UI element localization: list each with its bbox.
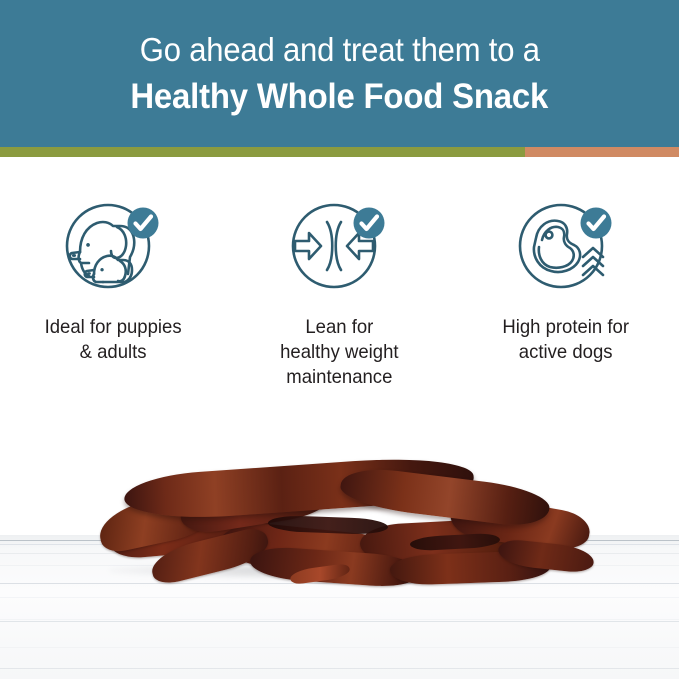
feature-caption-high-protein: High protein for active dogs xyxy=(502,315,629,365)
accent-stripe-olive-segment xyxy=(0,147,525,157)
feature-caption-puppies-and-adults: Ideal for puppies & adults xyxy=(45,315,182,365)
steak-chevrons-icon xyxy=(511,200,621,292)
accent-stripe-terracotta-segment xyxy=(525,147,679,157)
feature-item-high-protein: High protein for active dogs xyxy=(453,157,679,365)
two-dogs-icon xyxy=(58,200,168,292)
feature-caption-line: Ideal for puppies xyxy=(45,315,182,340)
product-marketing-image: Go ahead and treat them to a Healthy Who… xyxy=(0,0,679,679)
checkmark-badge-icon xyxy=(580,208,611,239)
product-photo xyxy=(0,447,679,679)
feature-row: Ideal for puppies & adults xyxy=(0,157,679,447)
checkmark-badge-icon xyxy=(354,208,385,239)
feature-item-puppies-and-adults: Ideal for puppies & adults xyxy=(0,157,226,365)
feature-caption-line: healthy weight xyxy=(280,340,398,365)
feature-caption-healthy-weight: Lean for healthy weight maintenance xyxy=(280,315,398,390)
feature-caption-line: & adults xyxy=(45,340,182,365)
plank-seam xyxy=(0,621,679,622)
header-headline-line1: Go ahead and treat them to a xyxy=(140,28,540,72)
feature-caption-line: maintenance xyxy=(280,365,398,390)
feature-caption-line: High protein for xyxy=(502,315,629,340)
plank-seam xyxy=(0,668,679,669)
accent-stripe xyxy=(0,147,679,157)
feature-caption-line: active dogs xyxy=(502,340,629,365)
checkmark-badge-icon xyxy=(128,208,159,239)
feature-item-healthy-weight: Lean for healthy weight maintenance xyxy=(226,157,452,390)
jerky-pile xyxy=(90,459,600,589)
header-banner: Go ahead and treat them to a Healthy Who… xyxy=(0,0,679,147)
header-headline-line2: Healthy Whole Food Snack xyxy=(131,74,549,120)
inward-arrows-waist-icon xyxy=(284,200,394,292)
feature-caption-line: Lean for xyxy=(280,315,398,340)
